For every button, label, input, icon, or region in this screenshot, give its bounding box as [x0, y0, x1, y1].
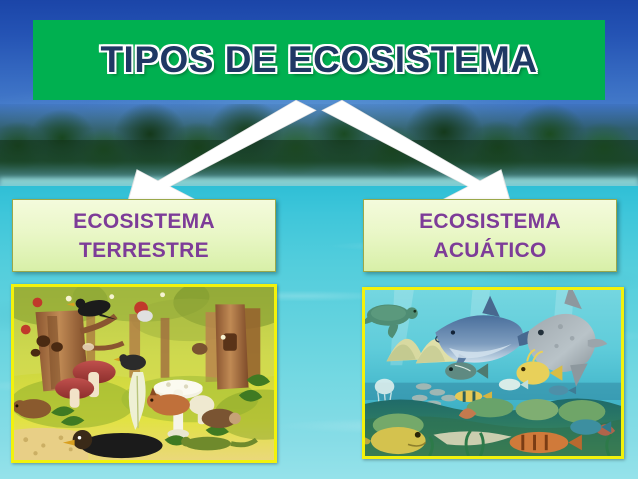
label-acuatico-line2: ACUÁTICO [433, 236, 546, 265]
title-banner: TIPOS DE ECOSISTEMA [33, 20, 605, 100]
label-acuatico-line1: ECOSISTEMA [419, 207, 561, 236]
label-terrestre-line2: TERRESTRE [79, 236, 209, 265]
label-terrestre-line1: ECOSISTEMA [73, 207, 215, 236]
ocean-illustration [365, 290, 621, 456]
ocean-ecosystem-image [362, 287, 624, 459]
forest-ecosystem-image [11, 284, 277, 463]
forest-illustration [14, 287, 274, 460]
label-box-terrestre[interactable]: ECOSISTEMA TERRESTRE [12, 199, 276, 272]
page-title: TIPOS DE ECOSISTEMA [100, 39, 537, 81]
label-box-acuatico[interactable]: ECOSISTEMA ACUÁTICO [363, 199, 617, 272]
slide-canvas: TIPOS DE ECOSISTEMA ECOSISTEMA TERRESTRE… [0, 0, 638, 479]
